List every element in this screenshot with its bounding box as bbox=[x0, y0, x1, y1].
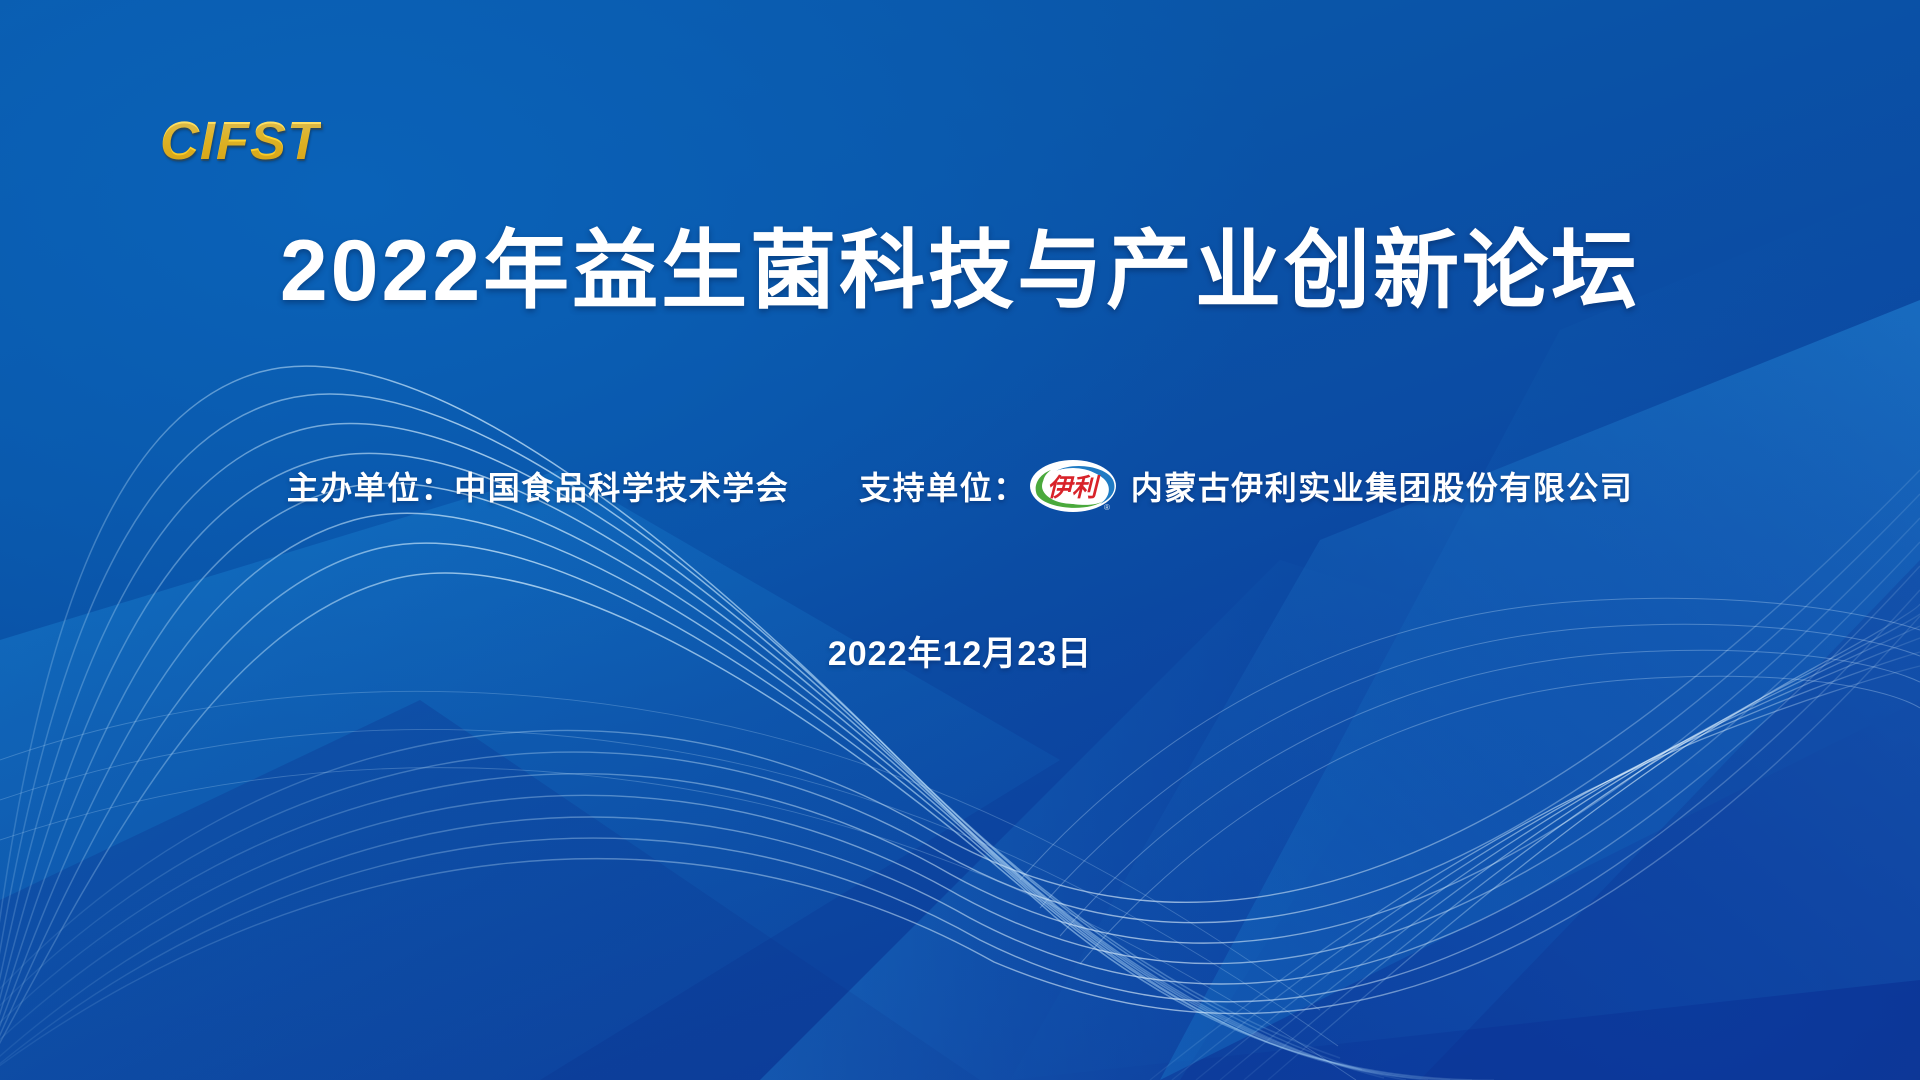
page-title: 2022年益生菌科技与产业创新论坛 bbox=[0, 226, 1920, 316]
supporter-label: 支持单位： bbox=[859, 463, 1027, 509]
poster-canvas: CIFST 2022年益生菌科技与产业创新论坛 主办单位： 中国食品科学技术学会… bbox=[0, 0, 1920, 1080]
poster-content: CIFST 2022年益生菌科技与产业创新论坛 主办单位： 中国食品科学技术学会… bbox=[0, 0, 1920, 1080]
cifst-logo: CIFST bbox=[160, 110, 321, 172]
svg-text:伊利: 伊利 bbox=[1047, 474, 1101, 502]
svg-text:®: ® bbox=[1104, 503, 1110, 512]
organizers-row: 主办单位： 中国食品科学技术学会 支持单位： 伊利 ® 内蒙古伊利实业集团股份有… bbox=[0, 458, 1920, 514]
organizer-name: 中国食品科学技术学会 bbox=[454, 463, 789, 509]
yili-logo-icon: 伊利 ® bbox=[1029, 458, 1117, 514]
organizer-label: 主办单位： bbox=[287, 463, 455, 509]
event-date: 2022年12月23日 bbox=[0, 626, 1920, 675]
supporter-name: 内蒙古伊利实业集团股份有限公司 bbox=[1131, 463, 1634, 509]
